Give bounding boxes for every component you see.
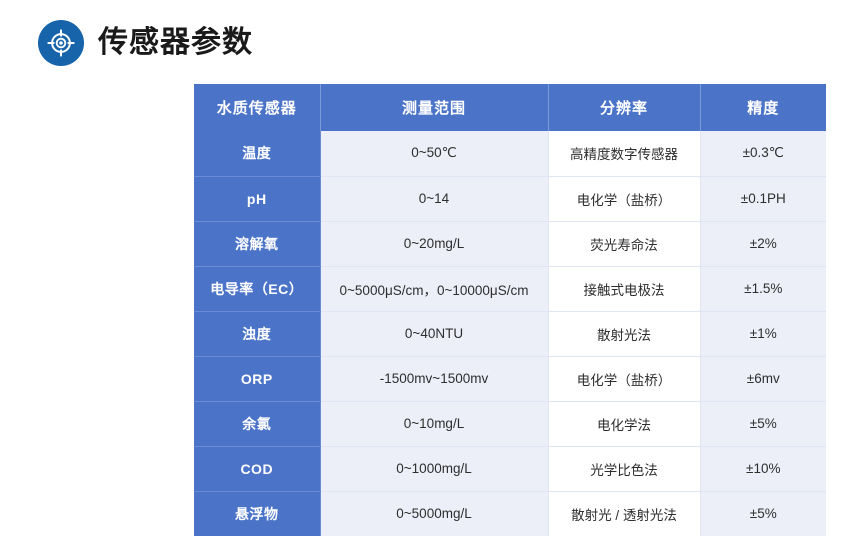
cell-range: 0~50℃ <box>320 131 548 176</box>
page-title: 传感器参数 <box>98 28 253 58</box>
table-row: 余氯 0~10mg/L 电化学法 ±5% <box>194 401 826 446</box>
cell-accuracy: ±6mv <box>700 356 826 401</box>
cell-sensor: 浊度 <box>194 311 320 356</box>
cell-accuracy: ±1.5% <box>700 266 826 311</box>
table-body: 温度 0~50℃ 高精度数字传感器 ±0.3℃ pH 0~14 电化学（盐桥） … <box>194 131 826 536</box>
cell-resolution: 散射光法 <box>548 311 700 356</box>
table-row: 溶解氧 0~20mg/L 荧光寿命法 ±2% <box>194 221 826 266</box>
table-header: 水质传感器 测量范围 分辨率 精度 <box>194 84 826 131</box>
column-header-resolution: 分辨率 <box>548 84 700 131</box>
cell-range: 0~5000μS/cm，0~10000μS/cm <box>320 266 548 311</box>
cell-resolution: 散射光 / 透射光法 <box>548 491 700 536</box>
cell-sensor: 温度 <box>194 131 320 176</box>
table-row: 电导率（EC） 0~5000μS/cm，0~10000μS/cm 接触式电极法 … <box>194 266 826 311</box>
cell-range: 0~14 <box>320 176 548 221</box>
table-row: 温度 0~50℃ 高精度数字传感器 ±0.3℃ <box>194 131 826 176</box>
table-row: pH 0~14 电化学（盐桥） ±0.1PH <box>194 176 826 221</box>
cell-accuracy: ±2% <box>700 221 826 266</box>
cell-sensor: 悬浮物 <box>194 491 320 536</box>
sensor-spec-table: 水质传感器 测量范围 分辨率 精度 温度 0~50℃ 高精度数字传感器 ±0.3… <box>194 84 826 536</box>
cell-resolution: 电化学（盐桥） <box>548 356 700 401</box>
cell-sensor: 余氯 <box>194 401 320 446</box>
cell-sensor: 电导率（EC） <box>194 266 320 311</box>
table-row: ORP -1500mv~1500mv 电化学（盐桥） ±6mv <box>194 356 826 401</box>
cell-resolution: 光学比色法 <box>548 446 700 491</box>
table-row: 浊度 0~40NTU 散射光法 ±1% <box>194 311 826 356</box>
cell-accuracy: ±0.3℃ <box>700 131 826 176</box>
table-row: COD 0~1000mg/L 光学比色法 ±10% <box>194 446 826 491</box>
cell-resolution: 接触式电极法 <box>548 266 700 311</box>
cell-range: 0~20mg/L <box>320 221 548 266</box>
cell-accuracy: ±5% <box>700 401 826 446</box>
cell-resolution: 电化学法 <box>548 401 700 446</box>
cell-resolution: 高精度数字传感器 <box>548 131 700 176</box>
cell-sensor: COD <box>194 446 320 491</box>
cell-sensor: 溶解氧 <box>194 221 320 266</box>
cell-accuracy: ±10% <box>700 446 826 491</box>
cell-sensor: pH <box>194 176 320 221</box>
cell-accuracy: ±5% <box>700 491 826 536</box>
cell-range: 0~1000mg/L <box>320 446 548 491</box>
cell-range: 0~10mg/L <box>320 401 548 446</box>
cell-range: 0~40NTU <box>320 311 548 356</box>
column-header-accuracy: 精度 <box>700 84 826 131</box>
crosshair-target-icon <box>38 20 84 66</box>
cell-range: -1500mv~1500mv <box>320 356 548 401</box>
cell-resolution: 荧光寿命法 <box>548 221 700 266</box>
cell-sensor: ORP <box>194 356 320 401</box>
table-row: 悬浮物 0~5000mg/L 散射光 / 透射光法 ±5% <box>194 491 826 536</box>
column-header-range: 测量范围 <box>320 84 548 131</box>
page-header: 传感器参数 <box>38 20 253 66</box>
table-header-row: 水质传感器 测量范围 分辨率 精度 <box>194 84 826 131</box>
cell-accuracy: ±1% <box>700 311 826 356</box>
column-header-sensor: 水质传感器 <box>194 84 320 131</box>
cell-accuracy: ±0.1PH <box>700 176 826 221</box>
cell-range: 0~5000mg/L <box>320 491 548 536</box>
cell-resolution: 电化学（盐桥） <box>548 176 700 221</box>
sensor-spec-table-wrapper: 水质传感器 测量范围 分辨率 精度 温度 0~50℃ 高精度数字传感器 ±0.3… <box>194 84 826 536</box>
